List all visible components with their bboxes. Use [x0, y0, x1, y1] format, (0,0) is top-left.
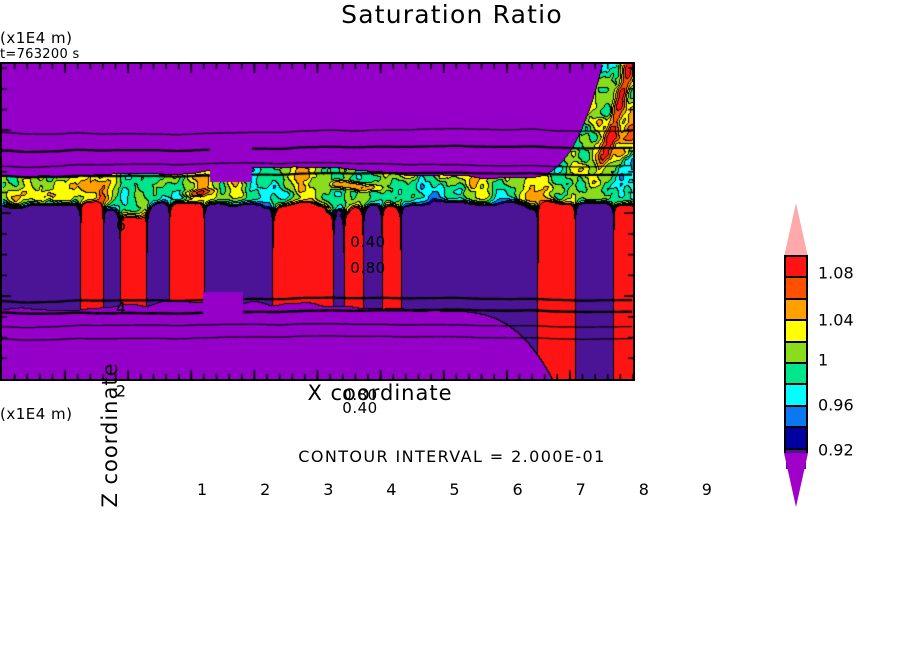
colorbar-band-6: [786, 383, 806, 404]
colorbar-band-4: [786, 341, 806, 362]
colorbar-band-5: [786, 362, 806, 383]
y-tick-label-6: 6: [104, 216, 126, 235]
x-tick-label-7: 7: [576, 480, 586, 499]
contour-label-0-40-3: 0.40: [342, 399, 377, 417]
y-tick-label-4: 4: [104, 299, 126, 318]
colorbar-band-8: [786, 426, 806, 447]
colorbar-band-2: [786, 298, 806, 319]
contour-label-0-40-0: 0.40: [350, 233, 385, 251]
colorbar-band-1: [786, 276, 806, 297]
colorbar-label-0-92: 0.92: [818, 441, 854, 460]
colorbar-bands: [784, 255, 808, 453]
x-tick-label-9: 9: [702, 480, 712, 499]
contour-interval-note: CONTOUR INTERVAL = 2.000E-01: [0, 447, 904, 466]
contour-label-0-80-1: 0.80: [350, 259, 385, 277]
x-tick-label-3: 3: [323, 480, 333, 499]
colorbar-label-0-96: 0.96: [818, 396, 854, 415]
colorbar[interactable]: 1.081.0410.960.92: [782, 203, 812, 508]
contour-field-canvas: [2, 64, 633, 379]
colorbar-label-1-08: 1.08: [818, 264, 854, 283]
x-tick-label-6: 6: [513, 480, 523, 499]
x-tick-label-4: 4: [386, 480, 396, 499]
x-tick-label-2: 2: [260, 480, 270, 499]
contour-plot-area[interactable]: [0, 62, 635, 381]
colorbar-band-7: [786, 405, 806, 426]
page-title: Saturation Ratio: [0, 0, 904, 29]
x-tick-label-8: 8: [639, 480, 649, 499]
colorbar-label-1-04: 1.04: [818, 311, 854, 330]
colorbar-top-arrow-icon: [784, 203, 808, 257]
y-axis-unit-label: (x1E4 m): [0, 29, 904, 47]
time-stamp-label: t=763200 s: [0, 47, 904, 62]
colorbar-bottom-arrow-icon: [784, 453, 808, 507]
y-axis-title: Z coordinate: [98, 325, 122, 545]
colorbar-band-0: [786, 257, 806, 276]
x-tick-label-5: 5: [449, 480, 459, 499]
colorbar-band-3: [786, 319, 806, 340]
x-tick-label-1: 1: [197, 480, 207, 499]
colorbar-label-1: 1: [818, 351, 828, 370]
x-axis-unit-label: (x1E4 m): [0, 405, 904, 423]
